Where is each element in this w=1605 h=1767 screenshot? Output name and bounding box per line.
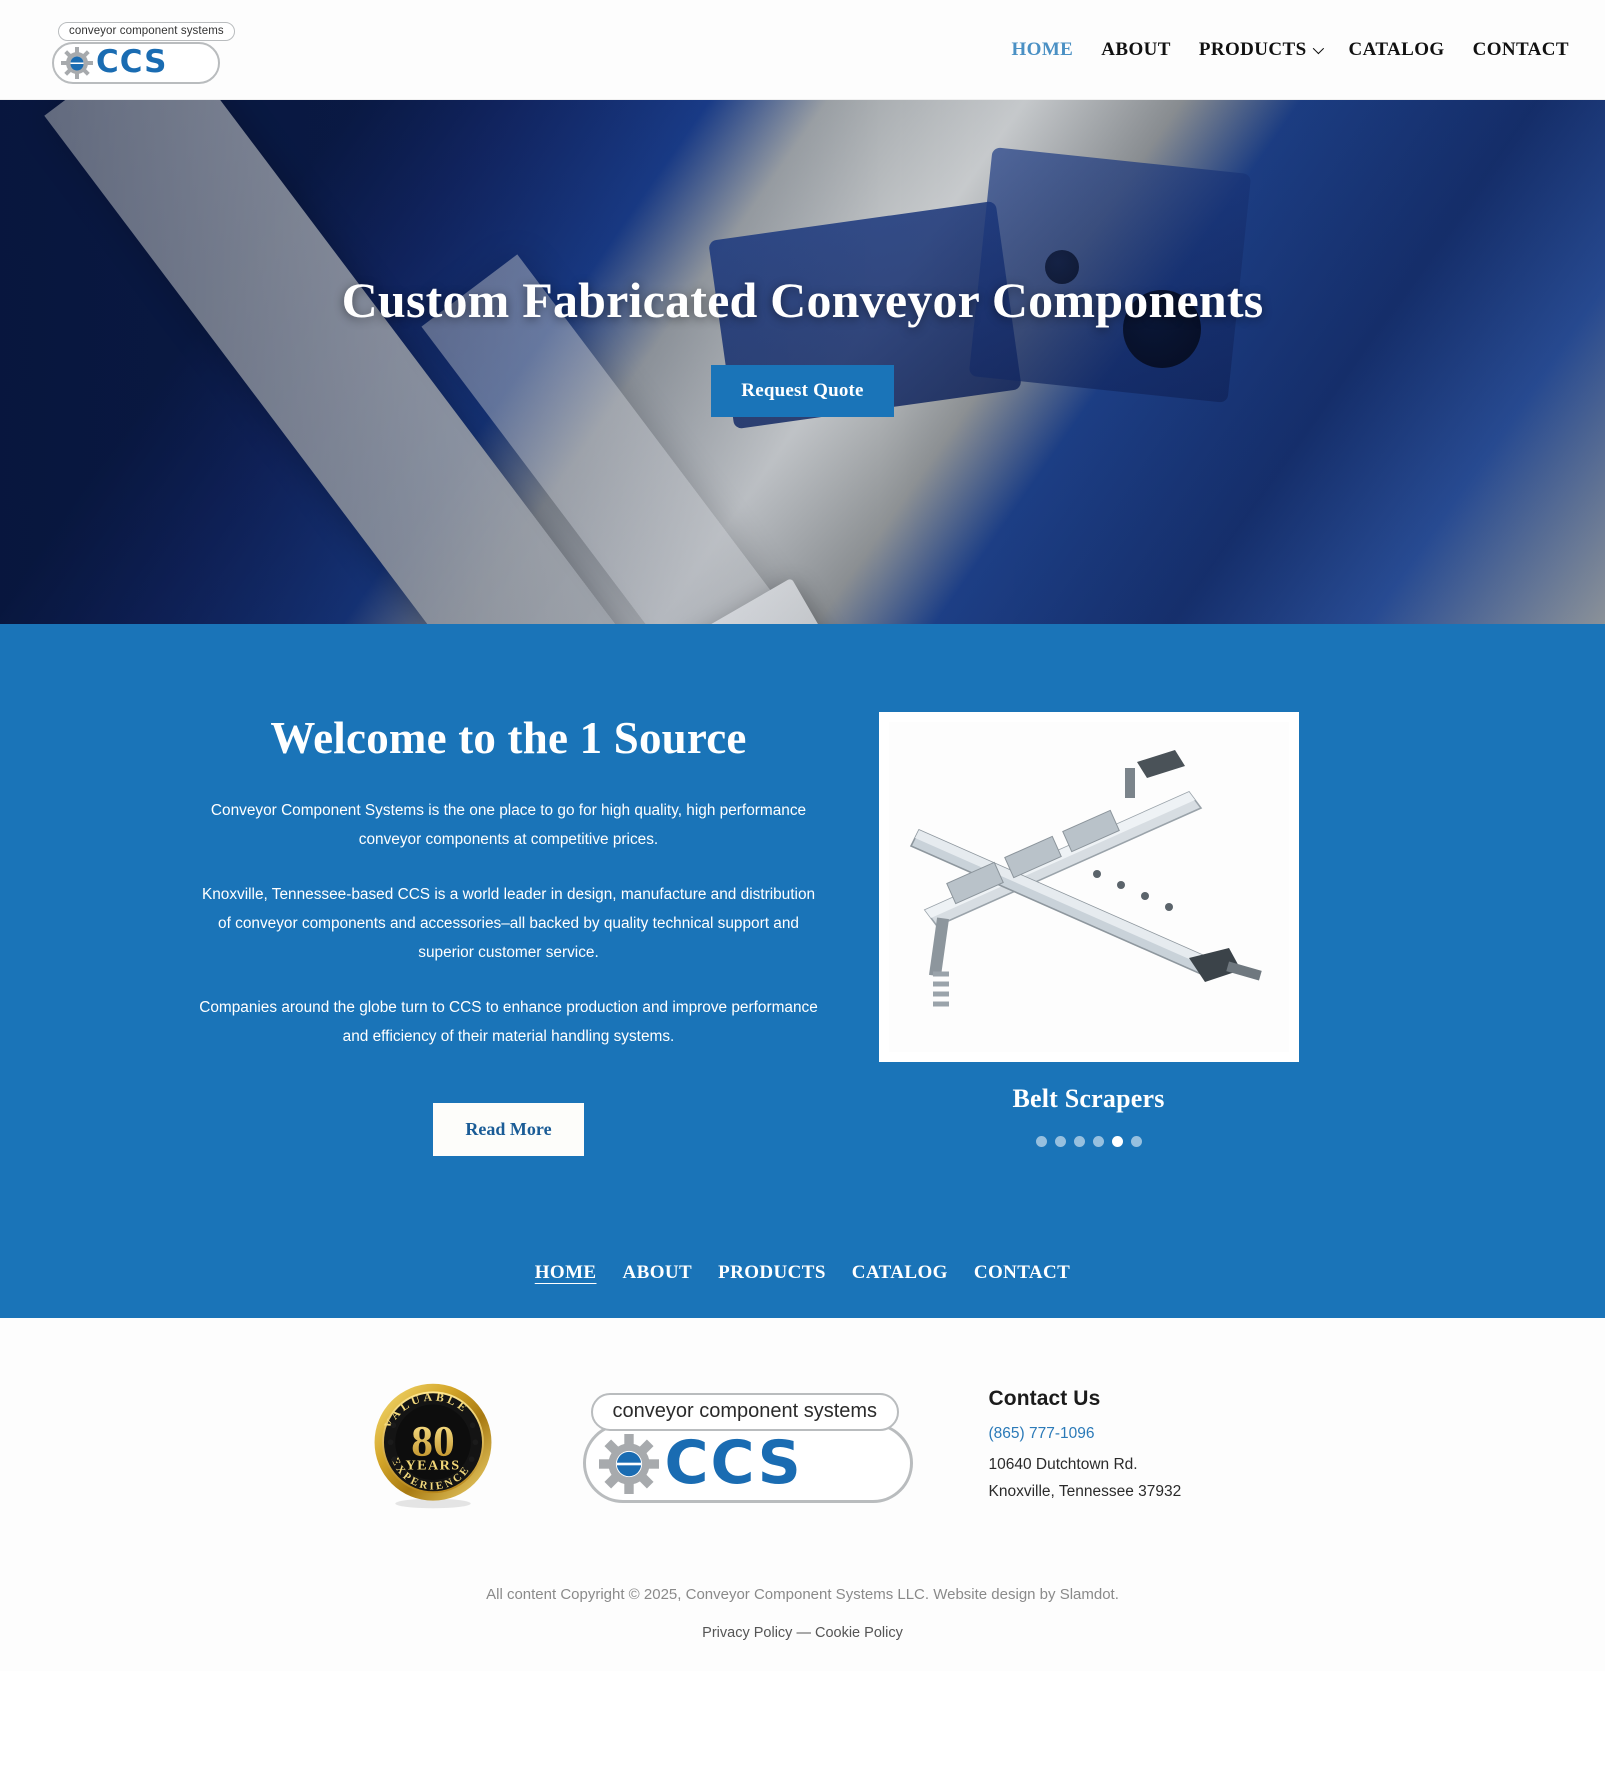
gear-icon: [599, 1434, 659, 1494]
anniversary-badge-icon: VALUABLE EXPERIENCE 80 YEARS: [367, 1380, 499, 1512]
badge-years-text: YEARS: [405, 1458, 460, 1474]
contact-phone-link[interactable]: (865) 777-1096: [989, 1425, 1239, 1443]
policy-links: Privacy Policy — Cookie Policy: [0, 1625, 1605, 1641]
read-more-button[interactable]: Read More: [433, 1103, 583, 1156]
footer-logo-acronym: CCS: [665, 1431, 803, 1495]
nav-label: CATALOG: [1349, 39, 1445, 61]
site-header: conveyor component systems: [0, 0, 1605, 100]
logo-tagline: conveyor component systems: [58, 22, 235, 41]
hero-section: Custom Fabricated Conveyor Components Re…: [0, 100, 1605, 624]
slider-dot-1[interactable]: [1036, 1136, 1047, 1147]
nav-label: PRODUCTS: [1199, 39, 1307, 61]
copyright-period: .: [1115, 1586, 1119, 1603]
nav-item-contact[interactable]: CONTACT: [1473, 39, 1569, 61]
nav-label: CONTACT: [1473, 39, 1569, 61]
nav-item-products[interactable]: PRODUCTS: [1199, 39, 1321, 61]
slider-dots: [1036, 1136, 1142, 1147]
slider-dot-3[interactable]: [1074, 1136, 1085, 1147]
welcome-paragraph-2: Knoxville, Tennessee-based CCS is a worl…: [199, 880, 819, 967]
slider-dot-4[interactable]: [1093, 1136, 1104, 1147]
cookie-policy-link[interactable]: Cookie Policy: [815, 1625, 903, 1641]
nav-label: HOME: [1011, 39, 1073, 61]
welcome-paragraph-3: Companies around the globe turn to CCS t…: [199, 993, 819, 1051]
contact-address-line-1: 10640 Dutchtown Rd.: [989, 1451, 1239, 1478]
contact-heading: Contact Us: [989, 1387, 1239, 1411]
footer-nav-item-catalog[interactable]: CATALOG: [852, 1262, 948, 1284]
copyright-body: All content Copyright © 2025, Conveyor C…: [486, 1586, 1060, 1603]
policy-separator: —: [796, 1625, 811, 1641]
secondary-nav: HOME ABOUT PRODUCTS CATALOG CONTACT: [0, 1156, 1605, 1318]
product-caption: Belt Scrapers: [1012, 1084, 1164, 1114]
footer-logo[interactable]: conveyor component systems: [569, 1381, 919, 1511]
product-slider: Belt Scrapers: [879, 712, 1299, 1147]
privacy-policy-link[interactable]: Privacy Policy: [702, 1625, 792, 1641]
copyright-text: All content Copyright © 2025, Conveyor C…: [0, 1586, 1605, 1603]
welcome-section: Welcome to the 1 Source Conveyor Compone…: [0, 624, 1605, 1318]
welcome-heading: Welcome to the 1 Source: [199, 712, 819, 764]
footer-nav-item-about[interactable]: ABOUT: [623, 1262, 693, 1284]
footer-nav-item-products[interactable]: PRODUCTS: [718, 1262, 826, 1284]
chevron-down-icon: [1312, 42, 1323, 53]
slider-dot-6[interactable]: [1131, 1136, 1142, 1147]
nav-item-home[interactable]: HOME: [1011, 39, 1073, 61]
gear-icon: [61, 47, 93, 79]
hero-title: Custom Fabricated Conveyor Components: [342, 271, 1264, 329]
nav-label: ABOUT: [1101, 39, 1171, 61]
welcome-paragraph-1: Conveyor Component Systems is the one pl…: [199, 796, 819, 854]
page-root: conveyor component systems: [0, 0, 1605, 1671]
nav-item-catalog[interactable]: CATALOG: [1349, 39, 1445, 61]
contact-column: Contact Us (865) 777-1096 10640 Dutchtow…: [989, 1387, 1239, 1505]
slider-dot-2[interactable]: [1055, 1136, 1066, 1147]
footer-nav-item-home[interactable]: HOME: [535, 1262, 597, 1284]
slider-dot-5[interactable]: [1112, 1136, 1123, 1147]
designer-link[interactable]: Slamdot: [1060, 1586, 1115, 1603]
contact-address-line-2: Knoxville, Tennessee 37932: [989, 1478, 1239, 1505]
footer-nav-item-contact[interactable]: CONTACT: [974, 1262, 1070, 1284]
nav-item-about[interactable]: ABOUT: [1101, 39, 1171, 61]
logo-acronym: CCS: [96, 45, 167, 79]
request-quote-button[interactable]: Request Quote: [711, 365, 893, 417]
site-logo[interactable]: conveyor component systems: [28, 14, 224, 86]
welcome-text-column: Welcome to the 1 Source Conveyor Compone…: [199, 712, 819, 1156]
footer-logo-tagline: conveyor component systems: [591, 1393, 900, 1431]
product-image-belt-scrapers[interactable]: [879, 712, 1299, 1062]
primary-nav: HOME ABOUT PRODUCTS CATALOG CONTACT: [1011, 39, 1581, 61]
site-footer: VALUABLE EXPERIENCE 80 YEARS conv: [0, 1318, 1605, 1671]
